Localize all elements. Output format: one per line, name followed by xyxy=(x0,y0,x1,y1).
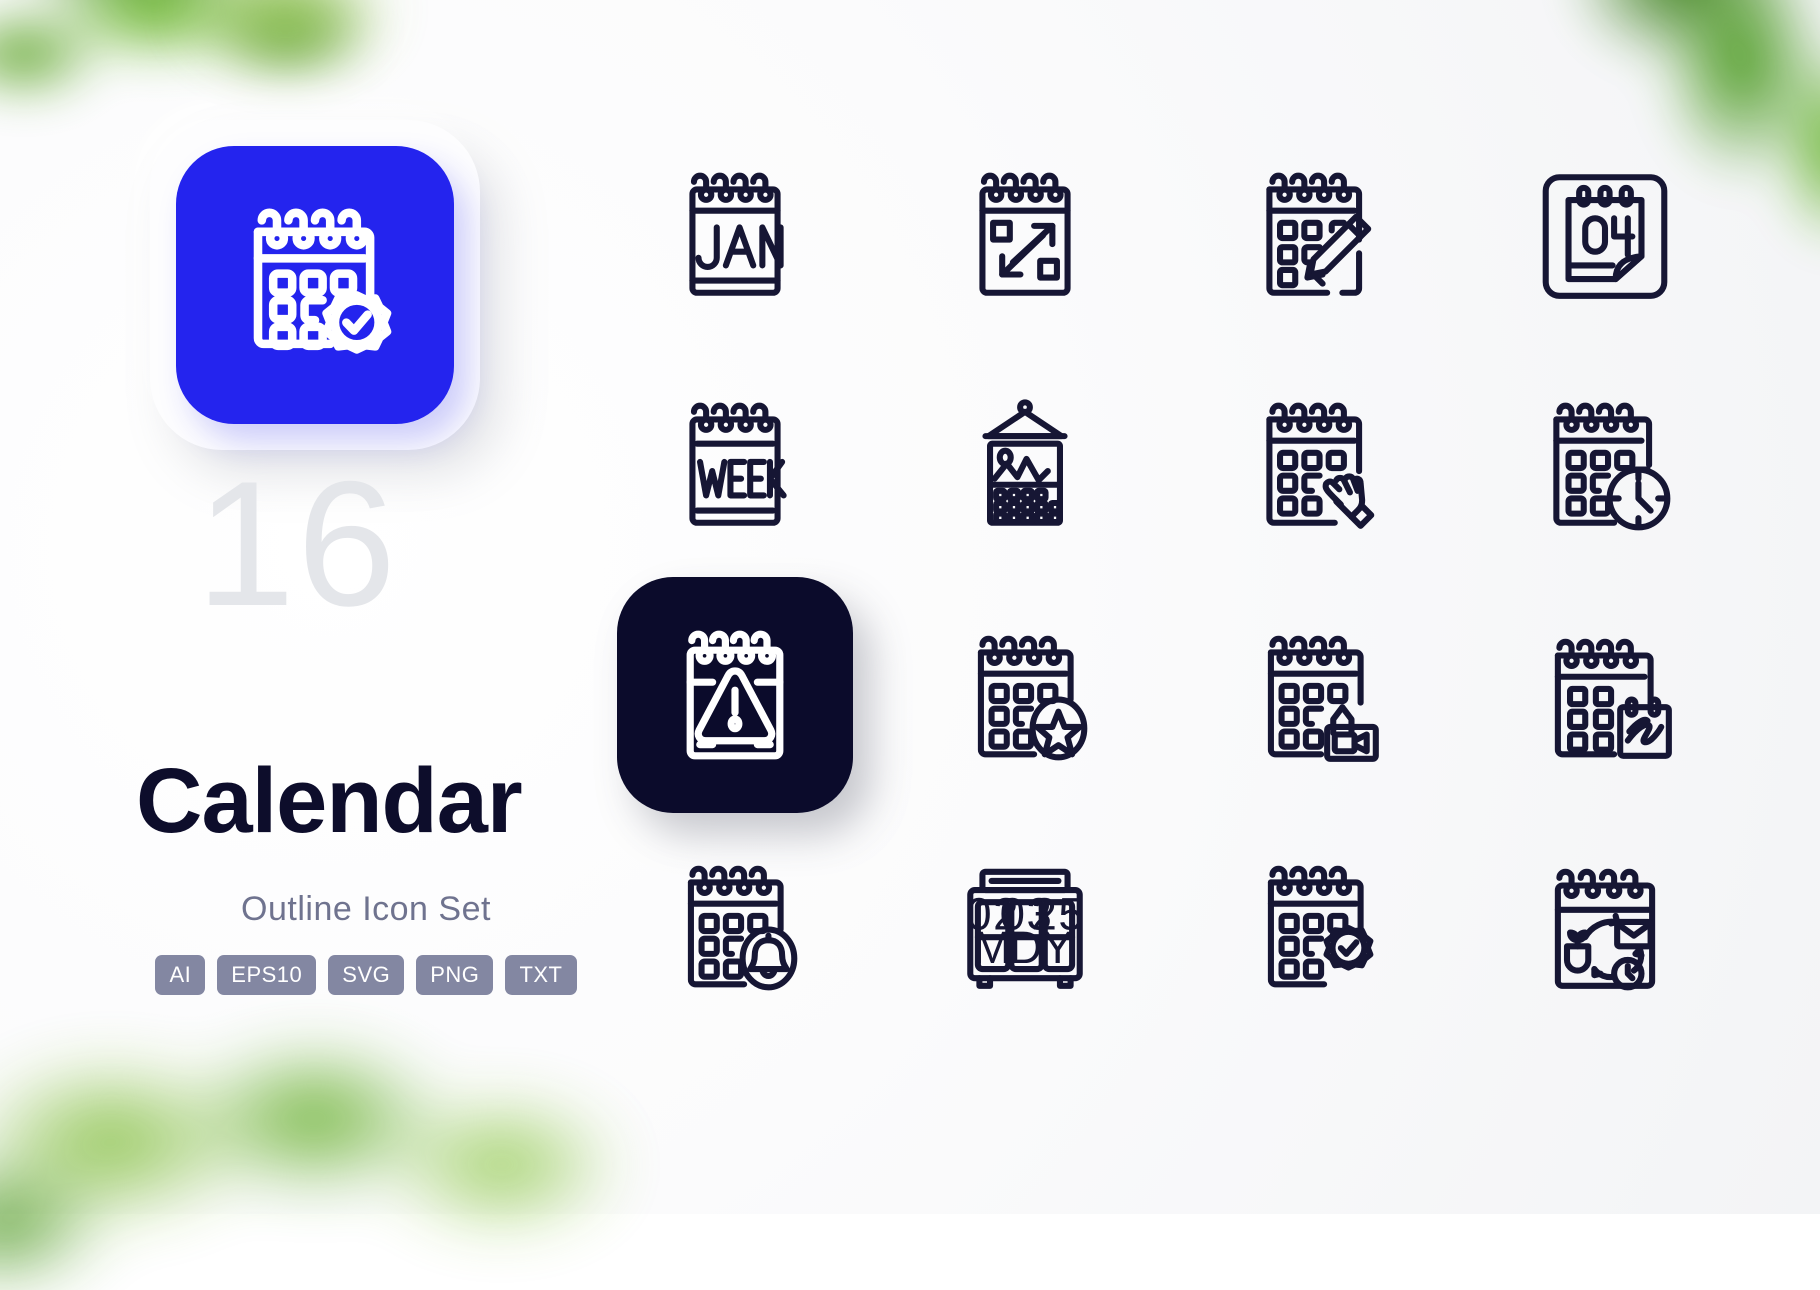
icon-cell-calendar-favorite[interactable] xyxy=(880,580,1170,810)
icon-cell-calendar-edit[interactable] xyxy=(1170,120,1460,350)
icon-cell-calendar-note[interactable] xyxy=(1460,580,1750,810)
calendar-favorite-star-icon xyxy=(949,619,1101,771)
format-badge-list: AI EPS10 SVG PNG TXT xyxy=(136,955,596,995)
icon-cell-calendar-certified[interactable] xyxy=(1170,810,1460,1040)
calendar-select-hand-icon xyxy=(1239,389,1391,541)
icon-cell-calendar-alert[interactable] xyxy=(590,580,880,810)
icon-cell-calendar-routine-cycle[interactable] xyxy=(1460,810,1750,1040)
wall-calendar-photo-icon xyxy=(949,389,1101,541)
calendar-certified-badge-icon xyxy=(1239,849,1391,1001)
icon-cell-flip-desk-calendar[interactable]: 02 M 03 D 25 Y xyxy=(880,810,1170,1040)
page-title: Calendar xyxy=(136,755,596,847)
page-subtitle: Outline Icon Set xyxy=(136,890,596,929)
format-badge-txt: TXT xyxy=(505,955,576,995)
format-badge-png: PNG xyxy=(416,955,493,995)
calendar-reminder-bell-icon xyxy=(659,849,811,1001)
calendar-alert-warning-icon xyxy=(655,615,815,775)
icon-cell-calendar-reminder[interactable] xyxy=(590,810,880,1040)
icon-grid: 02 M 03 D 25 Y xyxy=(590,120,1750,1040)
icon-cell-calendar-stopwatch[interactable] xyxy=(1460,350,1750,580)
brand-panel: 16 Calendar Outline Icon Set AI EPS10 SV… xyxy=(0,0,600,1214)
feature-tile-blue xyxy=(176,146,454,424)
feature-icon-tile[interactable] xyxy=(150,120,480,450)
flip-desk-calendar-icon: 02 M 03 D 25 Y xyxy=(949,849,1101,1001)
icon-cell-calendar-week[interactable] xyxy=(590,350,880,580)
calendar-stopwatch-icon xyxy=(1529,389,1681,541)
calendar-certified-icon xyxy=(220,190,410,380)
poster-background: 16 Calendar Outline Icon Set AI EPS10 SV… xyxy=(0,0,1820,1214)
calendar-date-04-peel-icon xyxy=(1529,159,1681,311)
calendar-week-icon xyxy=(659,389,811,541)
icon-count: 16 xyxy=(196,455,526,633)
icon-cell-calendar-select-hand[interactable] xyxy=(1170,350,1460,580)
calendar-routine-cycle-icon xyxy=(1529,849,1681,1001)
format-badge-eps10: EPS10 xyxy=(217,955,316,995)
icon-cell-calendar-video[interactable] xyxy=(1170,580,1460,810)
icon-cell-calendar-month-jan[interactable] xyxy=(590,120,880,350)
icon-cell-calendar-reschedule[interactable] xyxy=(880,120,1170,350)
calendar-note-scribble-icon xyxy=(1529,619,1681,771)
icon-cell-wall-calendar-photo[interactable] xyxy=(880,350,1170,580)
format-badge-ai: AI xyxy=(155,955,205,995)
format-badge-svg: SVG xyxy=(328,955,404,995)
flip-year-unit: Y xyxy=(1042,922,1074,973)
calendar-edit-pencil-icon xyxy=(1239,159,1391,311)
calendar-reschedule-icon xyxy=(949,159,1101,311)
calendar-video-meeting-icon xyxy=(1239,619,1391,771)
icon-cell-calendar-date-04[interactable] xyxy=(1460,120,1750,350)
calendar-month-jan-icon xyxy=(659,159,811,311)
